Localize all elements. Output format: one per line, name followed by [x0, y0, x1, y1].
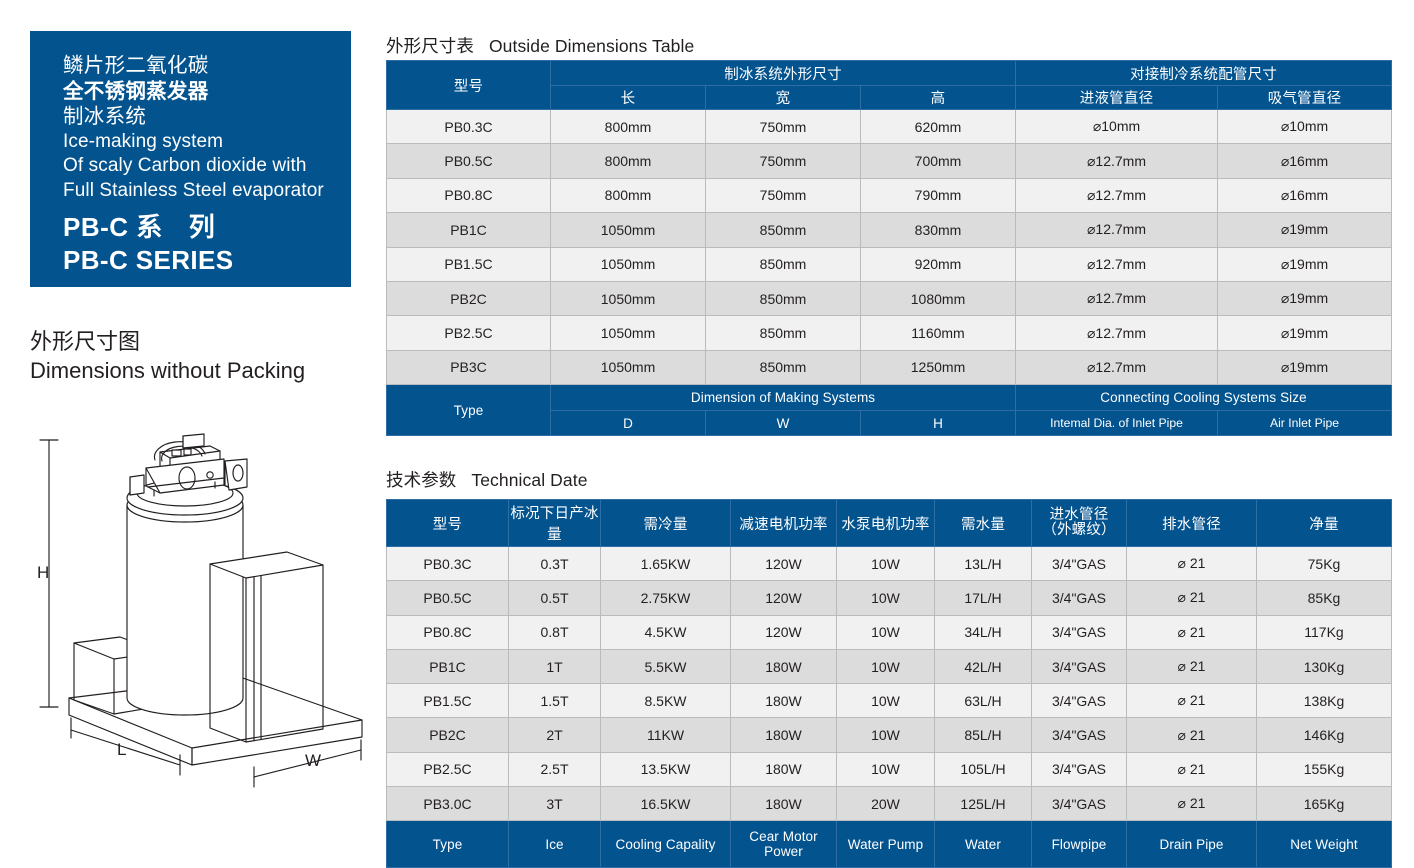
cell-height: 620mm: [861, 110, 1016, 144]
cell-inlet-pipe-dia: ⌀12.7mm: [1016, 247, 1218, 281]
table-row: PB0.3C800mm750mm620mm⌀10mm⌀10mm: [387, 110, 1392, 144]
caption-1-en: Outside Dimensions Table: [489, 36, 694, 56]
table-row: PB0.5C0.5T2.75KW120W10W17L/H3/4"GAS⌀ 218…: [387, 581, 1392, 615]
table-row: PB0.5C800mm750mm700mm⌀12.7mm⌀16mm: [387, 144, 1392, 178]
cell-net-weight: 75Kg: [1257, 547, 1392, 581]
title-line-cn-2: 全不锈钢蒸发器: [63, 79, 351, 105]
cell-model: PB1C: [387, 649, 509, 683]
cell-model: PB1C: [387, 213, 551, 247]
table-row: PB0.3C0.3T1.65KW120W10W13L/H3/4"GAS⌀ 217…: [387, 547, 1392, 581]
cell-model: PB1.5C: [387, 684, 509, 718]
cell-model: PB2.5C: [387, 752, 509, 786]
cell-width: 850mm: [706, 281, 861, 315]
cell-ice-output: 2T: [509, 718, 601, 752]
table2-footer-gear-motor-line2: Power: [731, 844, 836, 859]
table1-footer-sub-w: W: [706, 411, 861, 436]
cell-flowpipe: 3/4"GAS: [1032, 718, 1127, 752]
cell-inlet-pipe-dia: ⌀10mm: [1016, 110, 1218, 144]
cell-model: PB2.5C: [387, 316, 551, 350]
cell-net-weight: 155Kg: [1257, 752, 1392, 786]
cell-gear-motor-power: 180W: [731, 684, 837, 718]
outside-dimensions-table: 型号 制冰系统外形尺寸 对接制冷系统配管尺寸 长 宽 高 进液管直径 吸气管直径…: [386, 60, 1392, 436]
table2-footer-row: Type Ice Cooling Capality Cear Motor Pow…: [387, 821, 1392, 868]
cell-gear-motor-power: 180W: [731, 649, 837, 683]
cell-suction-pipe-dia: ⌀16mm: [1218, 178, 1392, 212]
table-row: PB2C1050mm850mm1080mm⌀12.7mm⌀19mm: [387, 281, 1392, 315]
cell-width: 750mm: [706, 144, 861, 178]
table-row: PB0.8C0.8T4.5KW120W10W34L/H3/4"GAS⌀ 2111…: [387, 615, 1392, 649]
cell-water-pump-power: 10W: [837, 684, 935, 718]
cell-inlet-pipe-dia: ⌀12.7mm: [1016, 316, 1218, 350]
cell-water-pump-power: 10W: [837, 649, 935, 683]
cell-ice-output: 1T: [509, 649, 601, 683]
cell-water-pump-power: 10W: [837, 581, 935, 615]
cell-ice-output: 2.5T: [509, 752, 601, 786]
cell-width: 850mm: [706, 316, 861, 350]
series-cn-part-b: 列: [189, 212, 216, 242]
cell-model: PB0.8C: [387, 178, 551, 212]
table1-footer-group-piping: Connecting Cooling Systems Size: [1016, 385, 1392, 411]
table2-footer-water-pump: Water Pump: [837, 821, 935, 868]
cell-flowpipe: 3/4"GAS: [1032, 649, 1127, 683]
cell-water-demand: 42L/H: [935, 649, 1032, 683]
cell-length: 1050mm: [551, 350, 706, 384]
cell-drain-pipe: ⌀ 21: [1127, 787, 1257, 821]
cell-width: 850mm: [706, 247, 861, 281]
cell-flowpipe: 3/4"GAS: [1032, 581, 1127, 615]
table1-header-model: 型号: [387, 61, 551, 110]
cell-suction-pipe-dia: ⌀19mm: [1218, 213, 1392, 247]
cell-cooling-capacity: 11KW: [601, 718, 731, 752]
cell-cooling-capacity: 13.5KW: [601, 752, 731, 786]
table-row: PB2C2T11KW180W10W85L/H3/4"GAS⌀ 21146Kg: [387, 718, 1392, 752]
cell-model: PB3.0C: [387, 787, 509, 821]
cell-length: 800mm: [551, 178, 706, 212]
dimensions-heading-en: Dimensions without Packing: [30, 356, 370, 385]
table2-footer-water: Water: [935, 821, 1032, 868]
cell-flowpipe: 3/4"GAS: [1032, 615, 1127, 649]
table-row: PB2.5C2.5T13.5KW180W10W105L/H3/4"GAS⌀ 21…: [387, 752, 1392, 786]
caption-1-cn: 外形尺寸表: [386, 36, 474, 56]
cell-gear-motor-power: 180W: [731, 718, 837, 752]
table-row: PB1C1T5.5KW180W10W42L/H3/4"GAS⌀ 21130Kg: [387, 649, 1392, 683]
table1-footer-sub-inlet-pipe: Intemal Dia. of Inlet Pipe: [1016, 411, 1218, 436]
outside-dimensions-caption: 外形尺寸表 Outside Dimensions Table: [386, 33, 694, 58]
cell-height: 790mm: [861, 178, 1016, 212]
figure-label-w: W: [305, 751, 321, 770]
title-line-en-1: Ice-making system: [63, 130, 351, 155]
table1-footer-model: Type: [387, 385, 551, 436]
cell-drain-pipe: ⌀ 21: [1127, 547, 1257, 581]
cell-model: PB0.5C: [387, 581, 509, 615]
cell-ice-output: 0.5T: [509, 581, 601, 615]
series-cn-part-a: PB-C 系: [63, 212, 163, 242]
table1-header-row-group: 型号 制冰系统外形尺寸 对接制冷系统配管尺寸: [387, 61, 1392, 86]
table2-header-inlet-pipe-line1: 进水管径: [1032, 508, 1126, 523]
figure-label-l: L: [117, 740, 126, 759]
cell-suction-pipe-dia: ⌀10mm: [1218, 110, 1392, 144]
cell-water-pump-power: 10W: [837, 752, 935, 786]
title-line-en-2: Of scaly Carbon dioxide with: [63, 154, 351, 179]
technical-data-table: 型号 标况下日产冰量 需冷量 减速电机功率 水泵电机功率 需水量 进水管径 （外…: [386, 499, 1392, 868]
table2-footer-flowpipe: Flowpipe: [1032, 821, 1127, 868]
cell-model: PB0.3C: [387, 547, 509, 581]
cell-drain-pipe: ⌀ 21: [1127, 752, 1257, 786]
table2-header-ice-output: 标况下日产冰量: [509, 500, 601, 547]
cell-height: 1080mm: [861, 281, 1016, 315]
table1-footer-group-dimensions: Dimension of Making Systems: [551, 385, 1016, 411]
cell-drain-pipe: ⌀ 21: [1127, 684, 1257, 718]
cell-model: PB3C: [387, 350, 551, 384]
table1-footer-sub-air-inlet-pipe: Air Inlet Pipe: [1218, 411, 1392, 436]
cell-cooling-capacity: 16.5KW: [601, 787, 731, 821]
table2-footer-gear-motor-power: Cear Motor Power: [731, 821, 837, 868]
cell-flowpipe: 3/4"GAS: [1032, 684, 1127, 718]
table1-header-sub-length: 长: [551, 86, 706, 110]
cell-suction-pipe-dia: ⌀19mm: [1218, 247, 1392, 281]
table2-header-drain-pipe: 排水管径: [1127, 500, 1257, 547]
table2-footer-ice: Ice: [509, 821, 601, 868]
cell-height: 1160mm: [861, 316, 1016, 350]
table1-header-sub-liquid-pipe: 进液管直径: [1016, 86, 1218, 110]
cell-suction-pipe-dia: ⌀19mm: [1218, 316, 1392, 350]
cell-length: 800mm: [551, 144, 706, 178]
right-column: 外形尺寸表 Outside Dimensions Table 型号 制冰系统外形…: [384, 0, 1414, 851]
title-line-cn-1: 鳞片形二氧化碳: [63, 53, 351, 79]
cell-model: PB1.5C: [387, 247, 551, 281]
cell-gear-motor-power: 180W: [731, 752, 837, 786]
figure-label-h: H: [37, 563, 49, 582]
cell-net-weight: 146Kg: [1257, 718, 1392, 752]
cell-water-demand: 63L/H: [935, 684, 1032, 718]
table1-footer-row-group: Type Dimension of Making Systems Connect…: [387, 385, 1392, 411]
cell-height: 700mm: [861, 144, 1016, 178]
table2-header-net-weight: 净量: [1257, 500, 1392, 547]
table2-header-model: 型号: [387, 500, 509, 547]
cell-ice-output: 0.8T: [509, 615, 601, 649]
series-name-en: PB-C SERIES: [63, 244, 351, 277]
table-row: PB2.5C1050mm850mm1160mm⌀12.7mm⌀19mm: [387, 316, 1392, 350]
cell-suction-pipe-dia: ⌀19mm: [1218, 350, 1392, 384]
cell-inlet-pipe-dia: ⌀12.7mm: [1016, 281, 1218, 315]
table2-footer-gear-motor-line1: Cear Motor: [731, 829, 836, 844]
table1-header-sub-width: 宽: [706, 86, 861, 110]
cell-width: 850mm: [706, 350, 861, 384]
cell-inlet-pipe-dia: ⌀12.7mm: [1016, 350, 1218, 384]
table2-footer-type: Type: [387, 821, 509, 868]
technical-data-caption: 技术参数 Technical Date: [386, 467, 588, 492]
table-row: PB1C1050mm850mm830mm⌀12.7mm⌀19mm: [387, 213, 1392, 247]
table1-header-sub-height: 高: [861, 86, 1016, 110]
cell-water-demand: 17L/H: [935, 581, 1032, 615]
cell-water-demand: 34L/H: [935, 615, 1032, 649]
caption-2-en: Technical Date: [471, 470, 587, 490]
cell-net-weight: 130Kg: [1257, 649, 1392, 683]
table1-body: PB0.3C800mm750mm620mm⌀10mm⌀10mmPB0.5C800…: [387, 110, 1392, 385]
cell-width: 850mm: [706, 213, 861, 247]
cell-width: 750mm: [706, 178, 861, 212]
cell-cooling-capacity: 8.5KW: [601, 684, 731, 718]
cell-net-weight: 117Kg: [1257, 615, 1392, 649]
cell-length: 800mm: [551, 110, 706, 144]
cell-drain-pipe: ⌀ 21: [1127, 718, 1257, 752]
cell-cooling-capacity: 5.5KW: [601, 649, 731, 683]
cell-flowpipe: 3/4"GAS: [1032, 787, 1127, 821]
cell-cooling-capacity: 4.5KW: [601, 615, 731, 649]
cell-model: PB0.3C: [387, 110, 551, 144]
cell-water-demand: 85L/H: [935, 718, 1032, 752]
cell-water-demand: 13L/H: [935, 547, 1032, 581]
table2-footer-drain-pipe: Drain Pipe: [1127, 821, 1257, 868]
cell-inlet-pipe-dia: ⌀12.7mm: [1016, 178, 1218, 212]
cell-flowpipe: 3/4"GAS: [1032, 752, 1127, 786]
cell-ice-output: 3T: [509, 787, 601, 821]
machine-dimension-drawing: H L W: [14, 430, 384, 820]
cylinder-tank-body: [127, 480, 243, 715]
cell-inlet-pipe-dia: ⌀12.7mm: [1016, 213, 1218, 247]
cell-width: 750mm: [706, 110, 861, 144]
cell-net-weight: 165Kg: [1257, 787, 1392, 821]
cell-net-weight: 138Kg: [1257, 684, 1392, 718]
product-title-panel: 鳞片形二氧化碳 全不锈钢蒸发器 制冰系统 Ice-making system O…: [30, 31, 351, 287]
series-name-cn: PB-C 系列: [63, 210, 351, 244]
table1-footer-sub-d: D: [551, 411, 706, 436]
cell-ice-output: 1.5T: [509, 684, 601, 718]
cell-drain-pipe: ⌀ 21: [1127, 615, 1257, 649]
table-row: PB3.0C3T16.5KW180W20W125L/H3/4"GAS⌀ 2116…: [387, 787, 1392, 821]
cell-suction-pipe-dia: ⌀19mm: [1218, 281, 1392, 315]
cell-height: 920mm: [861, 247, 1016, 281]
cell-cooling-capacity: 1.65KW: [601, 547, 731, 581]
cell-length: 1050mm: [551, 247, 706, 281]
cell-water-pump-power: 10W: [837, 718, 935, 752]
table1-header-group-dimensions: 制冰系统外形尺寸: [551, 61, 1016, 86]
cell-length: 1050mm: [551, 281, 706, 315]
table2-header-inlet-pipe-line2: （外螺纹）: [1032, 523, 1126, 538]
cell-water-pump-power: 20W: [837, 787, 935, 821]
table-row: PB0.8C800mm750mm790mm⌀12.7mm⌀16mm: [387, 178, 1392, 212]
cell-water-demand: 105L/H: [935, 752, 1032, 786]
title-line-cn-3: 制冰系统: [63, 104, 351, 130]
cell-net-weight: 85Kg: [1257, 581, 1392, 615]
cell-height: 830mm: [861, 213, 1016, 247]
table-row: PB1.5C1050mm850mm920mm⌀12.7mm⌀19mm: [387, 247, 1392, 281]
cell-height: 1250mm: [861, 350, 1016, 384]
cell-drain-pipe: ⌀ 21: [1127, 649, 1257, 683]
caption-2-cn: 技术参数: [386, 470, 456, 490]
riser-pipe: [130, 475, 144, 495]
cell-water-pump-power: 10W: [837, 615, 935, 649]
table2-header-row: 型号 标况下日产冰量 需冷量 减速电机功率 水泵电机功率 需水量 进水管径 （外…: [387, 500, 1392, 547]
cell-cooling-capacity: 2.75KW: [601, 581, 731, 615]
left-column: 鳞片形二氧化碳 全不锈钢蒸发器 制冰系统 Ice-making system O…: [0, 0, 384, 851]
table-row: PB3C1050mm850mm1250mm⌀12.7mm⌀19mm: [387, 350, 1392, 384]
cell-model: PB2C: [387, 281, 551, 315]
table1-footer-sub-h: H: [861, 411, 1016, 436]
cell-water-demand: 125L/H: [935, 787, 1032, 821]
table2-header-water-pump-power: 水泵电机功率: [837, 500, 935, 547]
cell-drain-pipe: ⌀ 21: [1127, 581, 1257, 615]
cell-model: PB2C: [387, 718, 509, 752]
table1-header-sub-suction-pipe: 吸气管直径: [1218, 86, 1392, 110]
cell-ice-output: 0.3T: [509, 547, 601, 581]
cell-gear-motor-power: 120W: [731, 615, 837, 649]
table2-footer-net-weight: Net Weight: [1257, 821, 1392, 868]
gear-motor-assembly: [146, 434, 247, 496]
cell-gear-motor-power: 120W: [731, 547, 837, 581]
cell-model: PB0.5C: [387, 144, 551, 178]
cell-gear-motor-power: 180W: [731, 787, 837, 821]
table2-footer-cooling-capality: Cooling Capality: [601, 821, 731, 868]
cell-suction-pipe-dia: ⌀16mm: [1218, 144, 1392, 178]
cell-inlet-pipe-dia: ⌀12.7mm: [1016, 144, 1218, 178]
table-row: PB1.5C1.5T8.5KW180W10W63L/H3/4"GAS⌀ 2113…: [387, 684, 1392, 718]
cell-water-pump-power: 10W: [837, 547, 935, 581]
dimensions-heading-cn: 外形尺寸图: [30, 327, 370, 356]
table1-header-group-piping: 对接制冷系统配管尺寸: [1016, 61, 1392, 86]
table2-header-cooling-capacity: 需冷量: [601, 500, 731, 547]
table2-header-water-demand: 需水量: [935, 500, 1032, 547]
table2-body: PB0.3C0.3T1.65KW120W10W13L/H3/4"GAS⌀ 217…: [387, 547, 1392, 821]
dimensions-heading: 外形尺寸图 Dimensions without Packing: [30, 327, 370, 385]
cell-model: PB0.8C: [387, 615, 509, 649]
cell-length: 1050mm: [551, 213, 706, 247]
title-line-en-3: Full Stainless Steel evaporator: [63, 179, 351, 204]
cell-length: 1050mm: [551, 316, 706, 350]
cell-flowpipe: 3/4"GAS: [1032, 547, 1127, 581]
cell-gear-motor-power: 120W: [731, 581, 837, 615]
table2-header-gear-motor-power: 减速电机功率: [731, 500, 837, 547]
table2-header-inlet-pipe: 进水管径 （外螺纹）: [1032, 500, 1127, 547]
